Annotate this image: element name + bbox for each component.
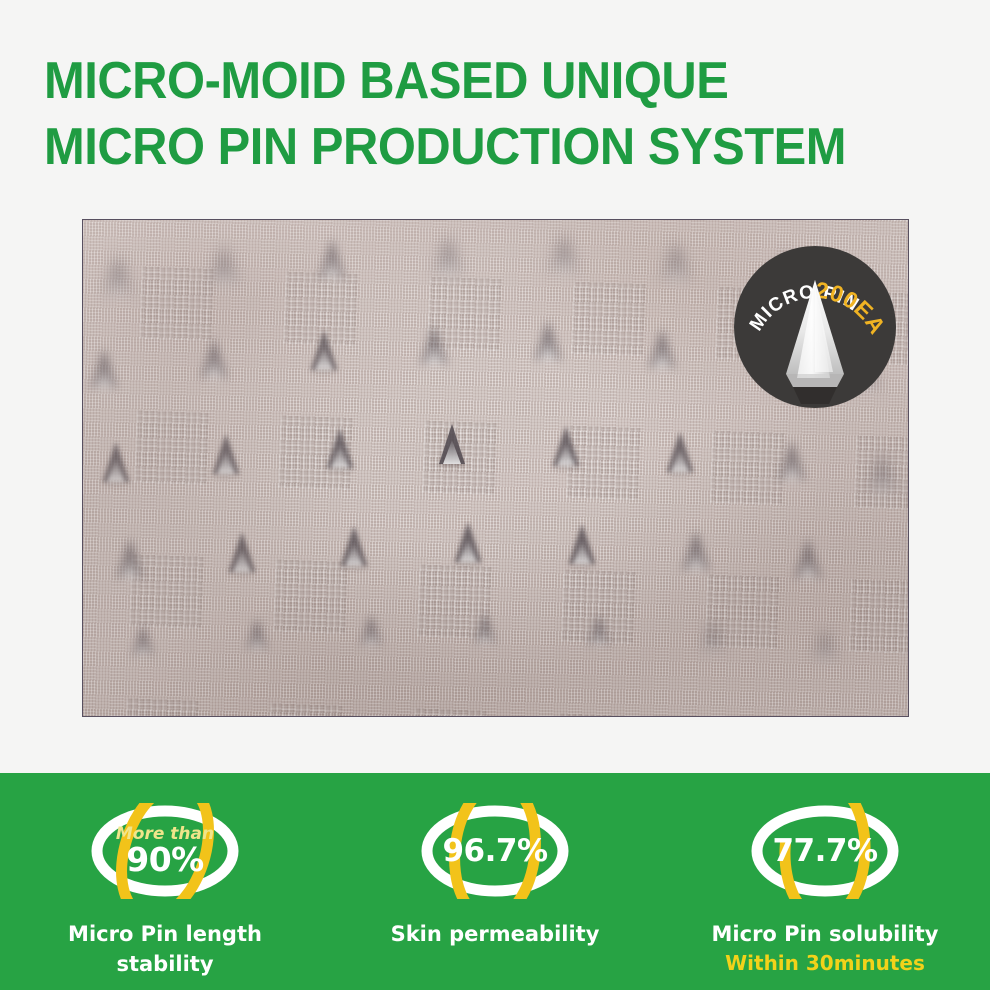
micro-pin: [475, 612, 495, 643]
title-line-1: MICRO-MOID BASED UNIQUE: [44, 48, 890, 114]
micro-pin: [91, 348, 117, 388]
micro-pin: [435, 234, 461, 274]
micro-pin: [683, 530, 709, 570]
micro-pin: [201, 338, 227, 378]
micro-pin: [319, 238, 345, 278]
stat-micro-pin-length-stability: More than 90% Micro Pin length stability: [0, 773, 330, 990]
micro-pin-count-badge: MICRO PIN 200EA: [734, 246, 896, 408]
progress-ring-2: 96.7%: [415, 803, 575, 899]
stat-value-3: 77.7%: [772, 834, 877, 868]
ring-text-3: 77.7%: [745, 803, 905, 899]
micro-pin-photo: MICRO PIN 200EA: [82, 219, 909, 717]
micro-pin: [439, 424, 465, 464]
stat-value-1: 90%: [126, 843, 204, 877]
micro-pin: [117, 538, 143, 578]
stat-value-2: 96.7%: [442, 834, 547, 868]
micro-pin: [569, 524, 595, 564]
micro-pin: [815, 628, 835, 659]
progress-ring-3: 77.7%: [745, 803, 905, 899]
micro-pin: [341, 526, 367, 566]
micro-pin: [361, 614, 381, 645]
micro-pin: [663, 240, 689, 280]
title-line-2: MICRO PIN PRODUCTION SYSTEM: [44, 114, 890, 180]
ring-text-2: 96.7%: [415, 803, 575, 899]
stats-band: More than 90% Micro Pin length stability: [0, 773, 990, 990]
stat-micro-pin-solubility: 77.7% Micro Pin solubility Within 30minu…: [660, 773, 990, 990]
micro-pin: [105, 254, 131, 294]
page-title: MICRO-MOID BASED UNIQUE MICRO PIN PRODUC…: [44, 48, 944, 180]
micro-pin: [553, 426, 579, 466]
micro-pin: [311, 330, 337, 370]
ring-text-1: More than 90%: [85, 803, 245, 899]
stat-sublabel-3: Within 30minutes: [660, 949, 990, 977]
micro-pin: [551, 232, 577, 272]
stat-label-3a: Micro Pin solubility: [660, 919, 990, 949]
micro-pin: [213, 434, 239, 474]
micro-pin: [133, 624, 153, 655]
micro-pin: [327, 428, 353, 468]
stat-skin-permeability: 96.7% Skin permeability: [330, 773, 660, 990]
micro-pin: [795, 538, 821, 578]
stat-label-2a: Skin permeability: [330, 919, 660, 949]
micro-pin: [421, 324, 447, 364]
micro-pin: [779, 440, 805, 480]
micro-pin: [869, 452, 895, 492]
stat-labels-1: Micro Pin length stability: [0, 919, 330, 979]
micro-pin: [703, 620, 723, 651]
micro-pin: [211, 244, 237, 284]
progress-ring-1: More than 90%: [85, 803, 245, 899]
micro-pin: [229, 532, 255, 572]
micro-pin: [247, 618, 267, 649]
micro-pin: [649, 328, 675, 368]
micro-pin: [589, 614, 609, 645]
micro-pin: [667, 432, 693, 472]
stats-row: More than 90% Micro Pin length stability: [0, 773, 990, 990]
stat-label-1b: stability: [0, 949, 330, 979]
stat-labels-3: Micro Pin solubility Within 30minutes: [660, 919, 990, 977]
stat-labels-2: Skin permeability: [330, 919, 660, 949]
stat-label-1a: Micro Pin length: [0, 919, 330, 949]
promo-infographic-page: MICRO-MOID BASED UNIQUE MICRO PIN PRODUC…: [0, 0, 990, 990]
micro-pin: [455, 522, 481, 562]
micro-pin: [103, 442, 129, 482]
micro-pin: [535, 320, 561, 360]
